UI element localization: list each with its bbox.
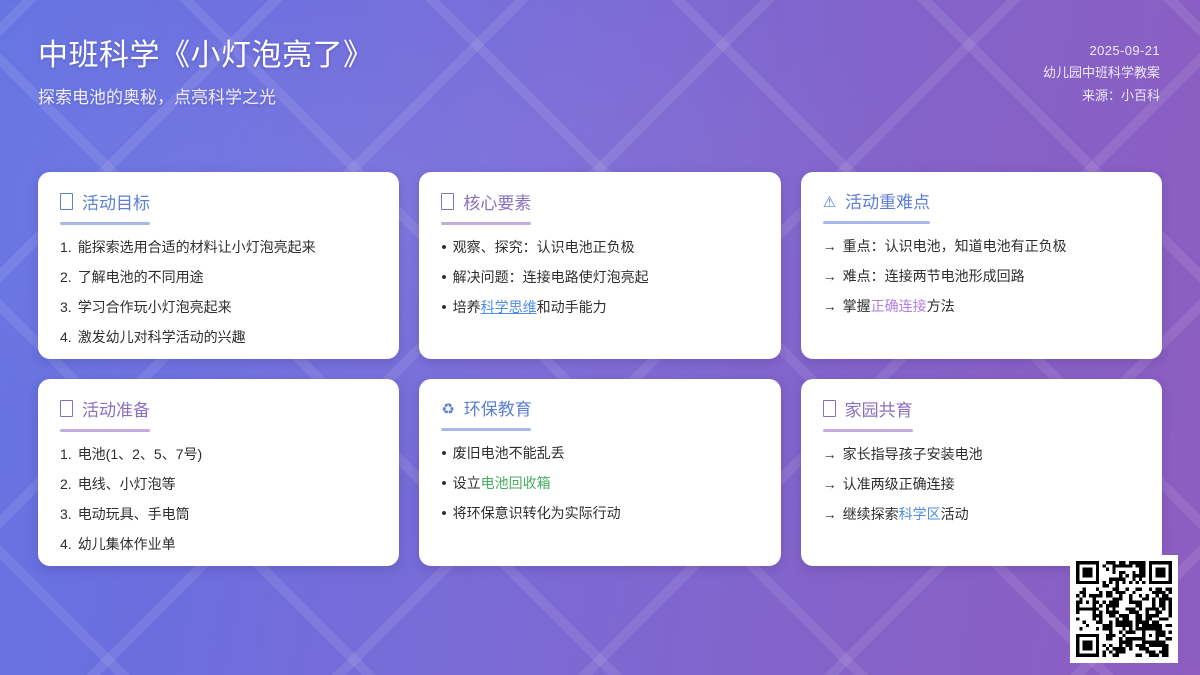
slide-root: 中班科学《小灯泡亮了》 探索电池的奥秘，点亮科学之光 2025-09-21 幼儿… — [0, 0, 1200, 675]
tofu-icon — [823, 398, 836, 418]
list-item-marker: • — [441, 270, 446, 285]
list-item: 4.幼儿集体作业单 — [60, 535, 377, 554]
inline-text: 继续探索 — [843, 506, 899, 522]
tofu-icon — [60, 398, 73, 418]
list-item: 2.电线、小灯泡等 — [60, 475, 377, 494]
card-list: →重点：认识电池，知道电池有正负极→难点：连接两节电池形成回路→掌握正确连接方法 — [823, 237, 1140, 316]
list-item: →难点：连接两节电池形成回路 — [823, 267, 1140, 286]
list-item-text: 激发幼儿对科学活动的兴趣 — [78, 328, 378, 347]
list-item-text: 学习合作玩小灯泡亮起来 — [78, 298, 378, 317]
list-item-text: 电池(1、2、5、7号) — [78, 445, 378, 464]
card-title: 家园共育 — [823, 399, 913, 428]
list-item-marker: • — [441, 506, 446, 521]
card-title: 活动目标 — [60, 192, 150, 221]
list-item-text: 解决问题：连接电路使灯泡亮起 — [453, 268, 759, 287]
card-title-label: 活动准备 — [82, 400, 150, 421]
list-item: 1.能探索选用合适的材料让小灯泡亮起来 — [60, 238, 377, 257]
page-title: 中班科学《小灯泡亮了》 — [38, 38, 374, 74]
inline-link[interactable]: 正确连接 — [871, 298, 927, 314]
card-title-underline — [441, 428, 531, 431]
header-title-block: 中班科学《小灯泡亮了》 探索电池的奥秘，点亮科学之光 — [38, 38, 374, 108]
card-preparation: 活动准备1.电池(1、2、5、7号)2.电线、小灯泡等3.电动玩具、手电筒4.幼… — [38, 379, 399, 566]
card-title-underline — [441, 222, 531, 225]
list-item-text: 电动玩具、手电筒 — [78, 505, 378, 524]
list-item-marker: 4. — [60, 328, 72, 347]
list-item-marker: → — [823, 445, 837, 464]
list-item-text: 家长指导孩子安装电池 — [843, 445, 1140, 464]
inline-text: 观察、探究：认识电池正负极 — [453, 239, 635, 255]
list-item: •解决问题：连接电路使灯泡亮起 — [441, 268, 758, 287]
inline-text: 废旧电池不能乱丢 — [453, 445, 565, 461]
card-title-label: 活动目标 — [82, 193, 150, 214]
list-item: →继续探索科学区活动 — [823, 505, 1140, 524]
list-item-marker: → — [823, 267, 837, 286]
inline-text: 幼儿集体作业单 — [78, 536, 176, 552]
meta-category: 幼儿园中班科学教案 — [1043, 62, 1160, 84]
inline-text: 解决问题：连接电路使灯泡亮起 — [453, 269, 649, 285]
card-list: 1.能探索选用合适的材料让小灯泡亮起来2.了解电池的不同用途3.学习合作玩小灯泡… — [60, 238, 377, 347]
list-item: →家长指导孩子安装电池 — [823, 445, 1140, 464]
list-item-text: 了解电池的不同用途 — [78, 268, 378, 287]
card-title-label: 环保教育 — [464, 399, 532, 420]
list-item: 3.电动玩具、手电筒 — [60, 505, 377, 524]
list-item-text: 掌握正确连接方法 — [843, 297, 1140, 316]
list-item: 1.电池(1、2、5、7号) — [60, 445, 377, 464]
inline-link[interactable]: 科学思维 — [481, 299, 537, 315]
card-list: •废旧电池不能乱丢•设立电池回收箱•将环保意识转化为实际行动 — [441, 444, 758, 523]
card-home-school: 家园共育→家长指导孩子安装电池→认准两级正确连接→继续探索科学区活动 — [801, 379, 1162, 566]
list-item: 2.了解电池的不同用途 — [60, 268, 377, 287]
list-item-marker: 2. — [60, 475, 72, 494]
list-item-marker: 2. — [60, 268, 72, 287]
card-objectives: 活动目标1.能探索选用合适的材料让小灯泡亮起来2.了解电池的不同用途3.学习合作… — [38, 172, 399, 359]
list-item-text: 将环保意识转化为实际行动 — [453, 504, 759, 523]
list-item: →认准两级正确连接 — [823, 475, 1140, 494]
list-item-text: 重点：认识电池，知道电池有正负极 — [843, 237, 1140, 256]
inline-text: 了解电池的不同用途 — [78, 269, 204, 285]
list-item-marker: • — [441, 240, 446, 255]
inline-text: 和动手能力 — [537, 299, 607, 315]
card-title: ⚠活动重难点 — [823, 192, 930, 220]
card-title-label: 核心要素 — [463, 193, 531, 214]
recycle-icon: ♻ — [441, 402, 454, 417]
list-item-text: 电线、小灯泡等 — [78, 475, 378, 494]
list-item-marker: • — [441, 300, 446, 315]
card-title: 活动准备 — [60, 399, 150, 428]
card-title-label: 家园共育 — [845, 400, 913, 421]
list-item-text: 能探索选用合适的材料让小灯泡亮起来 — [78, 238, 378, 257]
list-item-text: 设立电池回收箱 — [453, 474, 759, 493]
inline-text: 培养 — [453, 299, 481, 315]
inline-text: 难点：连接两节电池形成回路 — [843, 268, 1025, 284]
meta-date: 2025-09-21 — [1043, 40, 1160, 62]
list-item: →重点：认识电池，知道电池有正负极 — [823, 237, 1140, 256]
card-title-underline — [823, 221, 930, 224]
warning-triangle-icon: ⚠ — [823, 195, 836, 210]
list-item: 4.激发幼儿对科学活动的兴趣 — [60, 328, 377, 347]
inline-text: 将环保意识转化为实际行动 — [453, 505, 621, 521]
card-title-label: 活动重难点 — [845, 192, 930, 213]
list-item-marker: 3. — [60, 298, 72, 317]
list-item: •观察、探究：认识电池正负极 — [441, 238, 758, 257]
inline-link[interactable]: 电池回收箱 — [481, 475, 551, 491]
qr-code-image — [1076, 561, 1172, 657]
inline-text: 电线、小灯泡等 — [78, 476, 176, 492]
card-title-underline — [60, 429, 150, 432]
inline-text: 学习合作玩小灯泡亮起来 — [78, 299, 232, 315]
list-item-marker: 4. — [60, 535, 72, 554]
card-title: 核心要素 — [441, 192, 531, 221]
inline-text: 活动 — [941, 506, 969, 522]
card-grid: 活动目标1.能探索选用合适的材料让小灯泡亮起来2.了解电池的不同用途3.学习合作… — [38, 172, 1162, 566]
list-item: •将环保意识转化为实际行动 — [441, 504, 758, 523]
inline-text: 认准两级正确连接 — [843, 476, 955, 492]
list-item: •培养科学思维和动手能力 — [441, 298, 758, 317]
list-item-marker: • — [441, 476, 446, 491]
inline-text: 电动玩具、手电筒 — [78, 506, 190, 522]
inline-text: 方法 — [927, 298, 955, 314]
inline-text: 重点：认识电池，知道电池有正负极 — [843, 238, 1067, 254]
list-item-marker: → — [823, 237, 837, 256]
inline-text: 激发幼儿对科学活动的兴趣 — [78, 329, 246, 345]
list-item: →掌握正确连接方法 — [823, 297, 1140, 316]
list-item-marker: 3. — [60, 505, 72, 524]
card-environmental-education: ♻环保教育•废旧电池不能乱丢•设立电池回收箱•将环保意识转化为实际行动 — [419, 379, 780, 566]
list-item-text: 培养科学思维和动手能力 — [453, 298, 759, 317]
inline-text: 掌握 — [843, 298, 871, 314]
card-list: 1.电池(1、2、5、7号)2.电线、小灯泡等3.电动玩具、手电筒4.幼儿集体作… — [60, 445, 377, 554]
tofu-icon — [60, 191, 73, 211]
list-item-text: 观察、探究：认识电池正负极 — [453, 238, 759, 257]
qr-code[interactable] — [1070, 555, 1178, 663]
page-subtitle: 探索电池的奥秘，点亮科学之光 — [38, 88, 374, 108]
inline-text: 能探索选用合适的材料让小灯泡亮起来 — [78, 239, 316, 255]
list-item-text: 继续探索科学区活动 — [843, 505, 1140, 524]
slide-header: 中班科学《小灯泡亮了》 探索电池的奥秘，点亮科学之光 2025-09-21 幼儿… — [0, 0, 1200, 150]
inline-link[interactable]: 科学区 — [899, 506, 941, 522]
card-list: →家长指导孩子安装电池→认准两级正确连接→继续探索科学区活动 — [823, 445, 1140, 524]
card-list: •观察、探究：认识电池正负极•解决问题：连接电路使灯泡亮起•培养科学思维和动手能… — [441, 238, 758, 317]
card-core-elements: 核心要素•观察、探究：认识电池正负极•解决问题：连接电路使灯泡亮起•培养科学思维… — [419, 172, 780, 359]
list-item-text: 认准两级正确连接 — [843, 475, 1140, 494]
list-item-text: 废旧电池不能乱丢 — [453, 444, 759, 463]
list-item-marker: 1. — [60, 445, 72, 464]
list-item-marker: 1. — [60, 238, 72, 257]
tofu-icon — [441, 191, 454, 211]
header-meta-block: 2025-09-21 幼儿园中班科学教案 来源：小百科 — [1043, 40, 1160, 107]
list-item-marker: → — [823, 475, 837, 494]
list-item-marker: → — [823, 297, 837, 316]
list-item-text: 幼儿集体作业单 — [78, 535, 378, 554]
list-item-marker: → — [823, 505, 837, 524]
inline-text: 设立 — [453, 475, 481, 491]
card-title-underline — [823, 429, 913, 432]
card-key-difficulties: ⚠活动重难点→重点：认识电池，知道电池有正负极→难点：连接两节电池形成回路→掌握… — [801, 172, 1162, 359]
list-item: •设立电池回收箱 — [441, 474, 758, 493]
meta-source: 来源：小百科 — [1043, 85, 1160, 107]
list-item: •废旧电池不能乱丢 — [441, 444, 758, 463]
list-item-marker: • — [441, 446, 446, 461]
inline-text: 电池(1、2、5、7号) — [78, 446, 202, 462]
list-item: 3.学习合作玩小灯泡亮起来 — [60, 298, 377, 317]
card-title: ♻环保教育 — [441, 399, 531, 427]
inline-text: 家长指导孩子安装电池 — [843, 446, 983, 462]
list-item-text: 难点：连接两节电池形成回路 — [843, 267, 1140, 286]
card-title-underline — [60, 222, 150, 225]
